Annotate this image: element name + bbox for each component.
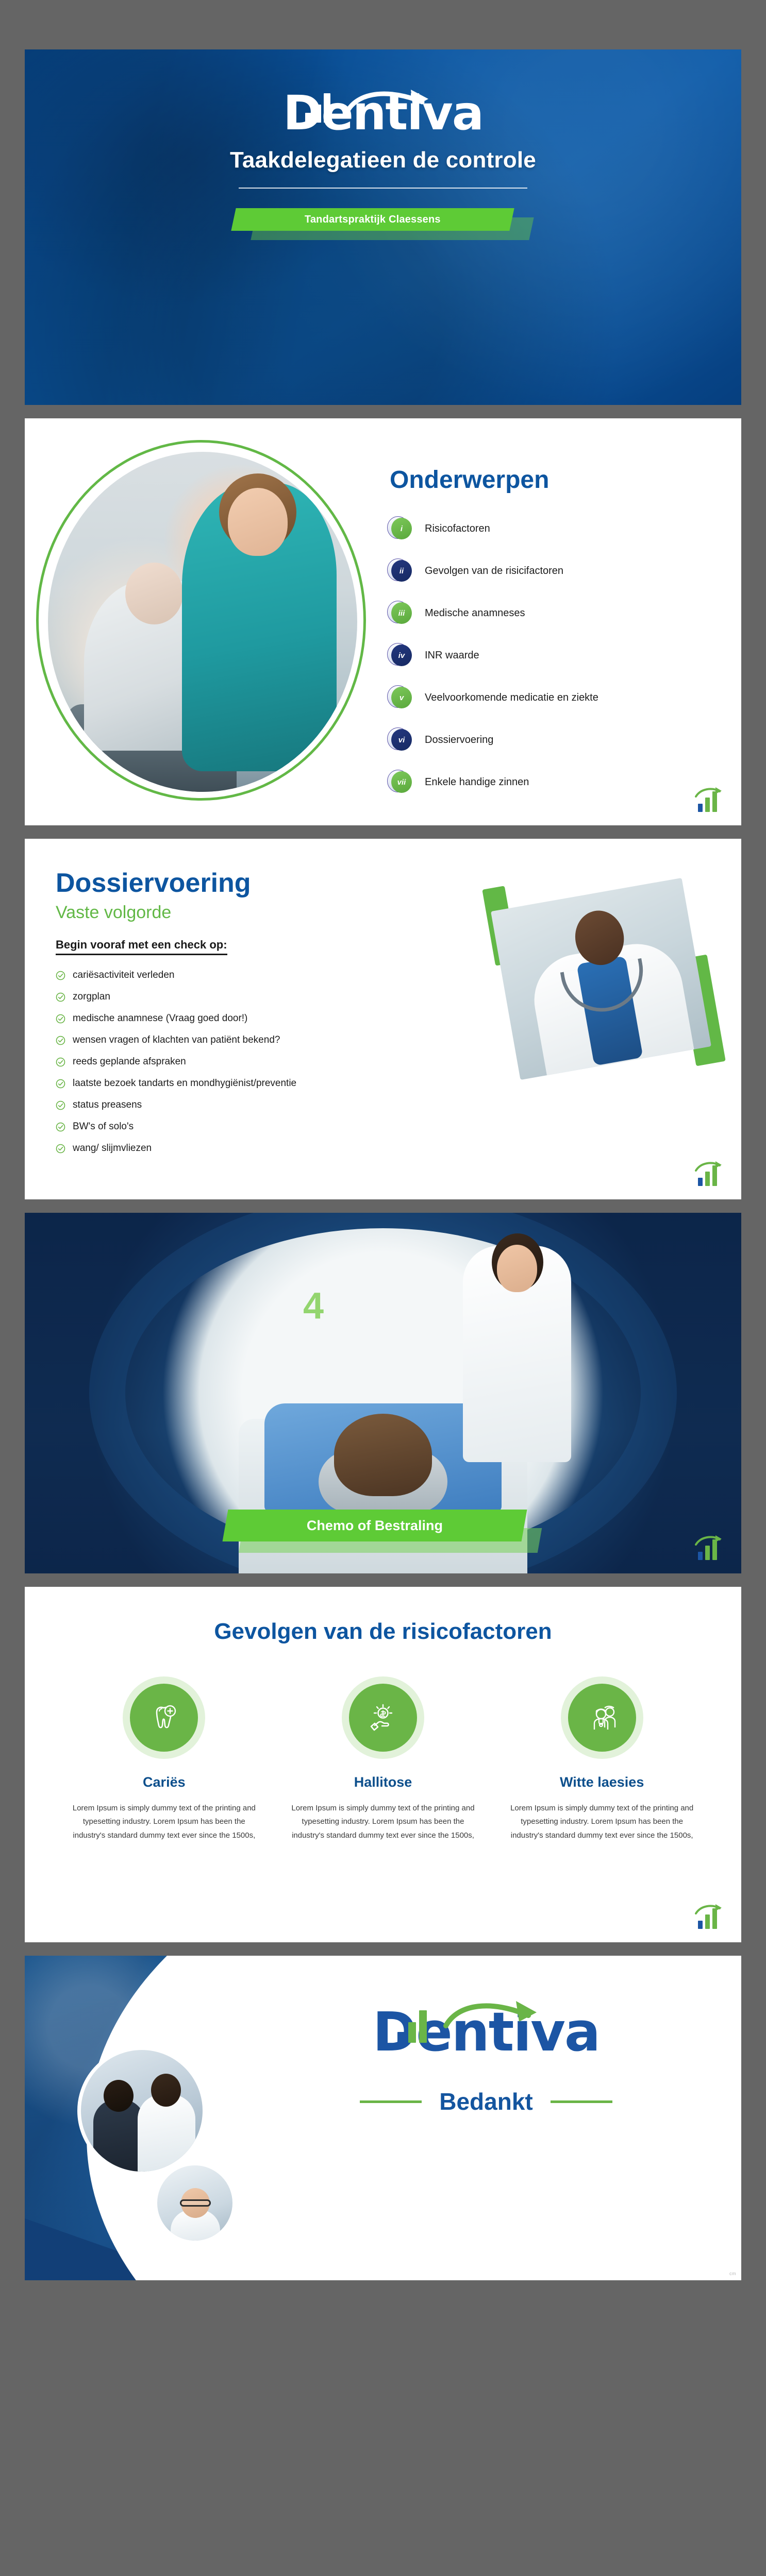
doctor-photo [493, 888, 714, 1074]
list-item-label: reeds geplande afspraken [73, 1056, 186, 1067]
badge-label: Tandartspraktijk Claessens [305, 214, 441, 226]
checklist-lead: Begin vooraf met een check op: [56, 938, 227, 955]
agenda-item-3[interactable]: iii Medische anamneses [390, 602, 712, 624]
check-circle-icon [56, 992, 65, 1002]
consequence-title: Witte laesies [504, 1774, 700, 1790]
page-title: Taakdelegatieen de controle [230, 147, 536, 173]
slide-deck: Dentiva Taakdelegatieen de controle Tand… [0, 0, 766, 2347]
check-circle-icon [56, 1036, 65, 1045]
badge-main: Tandartspraktijk Claessens [231, 208, 514, 231]
logo-arrow-icon [345, 87, 443, 124]
agenda-item-2[interactable]: ii Gevolgen van de risicifactoren [390, 560, 712, 582]
deck-top-margin [0, 0, 766, 49]
check-circle-icon [56, 1057, 65, 1067]
numeral-badge-vi: vi [390, 729, 411, 751]
consequence-column-1: Cariës Lorem Ipsum is simply dummy text … [66, 1676, 262, 1842]
agenda-item-7[interactable]: vii Enkele handige zinnen [390, 771, 712, 793]
slide-thank-you: Dentiva Bedankt cm [25, 1956, 741, 2280]
mini-logo-mark [695, 1161, 724, 1186]
badge-label: Chemo of Bestraling [307, 1518, 443, 1534]
thanks-content: Dentiva Bedankt [267, 2005, 705, 2115]
numeral-badge-iv: iv [390, 645, 411, 666]
mini-arrow-icon [695, 1160, 724, 1174]
hand-coin-idea-icon-ring [342, 1676, 424, 1759]
numeral-badge-i: i [390, 518, 411, 539]
logo-bars-icon [397, 2010, 426, 2042]
avatar-team-photo [77, 2046, 206, 2175]
dentiva-logo: Dentiva [283, 90, 483, 137]
slide-gap [0, 1942, 766, 1956]
hand-coin-idea-icon [366, 1701, 400, 1735]
numeral-badge-v: v [390, 687, 411, 708]
list-item[interactable]: BW's of solo's [56, 1121, 710, 1132]
tooth-plus-icon [147, 1701, 181, 1735]
avatar-doctor-photo [154, 2162, 236, 2244]
list-item-label: medische anamnese (Vraag goed door!) [73, 1013, 247, 1024]
slide-gap [0, 1573, 766, 1587]
slide-photo-chemo: 4 Chemo of Bestraling [25, 1213, 741, 1573]
mini-arrow-icon [695, 786, 724, 800]
agenda-item-label: Dossiervoering [425, 734, 493, 746]
check-circle-icon [56, 1100, 65, 1110]
numeral-badge-iii: iii [390, 602, 411, 624]
agenda-item-5[interactable]: v Veelvoorkomende medicatie en ziekte [390, 687, 712, 708]
title-stack: Dentiva Taakdelegatieen de controle Tand… [25, 49, 741, 238]
list-item-label: laatste bezoek tandarts en mondhygiënist… [73, 1078, 296, 1089]
thanks-rule-left [360, 2100, 422, 2103]
list-item-label: BW's of solo's [73, 1121, 134, 1132]
check-circle-icon [56, 1079, 65, 1089]
check-circle-icon [56, 971, 65, 980]
list-item-label: zorgplan [73, 991, 110, 1003]
slide-number: 4 [303, 1285, 324, 1327]
page-title: Onderwerpen [390, 466, 712, 494]
slide-consequences: Gevolgen van de risicofactoren Cariës Lo… [25, 1587, 741, 1942]
agenda-item-label: INR waarde [425, 650, 479, 662]
list-item-label: cariësactiviteit verleden [73, 970, 174, 981]
consequence-body: Lorem Ipsum is simply dummy text of the … [66, 1802, 262, 1842]
agenda-photo-area [25, 418, 380, 825]
list-item[interactable]: status preasens [56, 1099, 710, 1111]
title-divider [239, 188, 527, 189]
consequence-body: Lorem Ipsum is simply dummy text of the … [285, 1802, 481, 1842]
check-circle-icon [56, 1014, 65, 1024]
slide-agenda: Onderwerpen i Risicofactoren ii Gevolgen… [25, 418, 741, 825]
mini-arrow-icon [695, 1903, 724, 1917]
agenda-item-label: Enkele handige zinnen [425, 776, 529, 788]
list-item-label: wensen vragen of klachten van patiënt be… [73, 1035, 280, 1046]
check-circle-icon [56, 1144, 65, 1154]
logo-arrow-icon [443, 1998, 551, 2041]
chemo-badge: Chemo of Bestraling [223, 1507, 543, 1555]
slide-gap [0, 825, 766, 839]
agenda-item-1[interactable]: i Risicofactoren [390, 518, 712, 539]
medical-staff-icon-ring [561, 1676, 643, 1759]
badge-main: Chemo of Bestraling [223, 1510, 527, 1541]
consequence-column-2: Hallitose Lorem Ipsum is simply dummy te… [285, 1676, 481, 1842]
medical-staff-icon [585, 1701, 619, 1735]
practice-badge: Tandartspraktijk Claessens [228, 206, 538, 238]
agenda-item-label: Gevolgen van de risicifactoren [425, 565, 563, 577]
slide-dossiervoering: Dossiervoering Vaste volgorde Begin voor… [25, 839, 741, 1199]
agenda-item-4[interactable]: iv INR waarde [390, 645, 712, 666]
mini-logo-mark [695, 787, 724, 812]
slide-gap [0, 405, 766, 418]
thanks-label: Bedankt [439, 2088, 532, 2115]
consequence-body: Lorem Ipsum is simply dummy text of the … [504, 1802, 700, 1842]
slide-title: Dentiva Taakdelegatieen de controle Tand… [25, 49, 741, 405]
corner-watermark: cm [729, 2271, 736, 2276]
list-item-label: status preasens [73, 1099, 142, 1111]
consequence-column-3: Witte laesies Lorem Ipsum is simply dumm… [504, 1676, 700, 1842]
mini-logo-mark [695, 1535, 724, 1560]
mini-arrow-icon [695, 1534, 724, 1548]
list-item[interactable]: wang/ slijmvliezen [56, 1143, 710, 1154]
consequence-title: Cariës [66, 1774, 262, 1790]
consequence-title: Hallitose [285, 1774, 481, 1790]
mini-logo-mark [695, 1904, 724, 1929]
doctor-image [491, 878, 711, 1080]
nurse-patient-photo [48, 452, 357, 792]
numeral-badge-ii: ii [390, 560, 411, 582]
list-item-label: wang/ slijmvliezen [73, 1143, 152, 1154]
agenda-item-label: Medische anamneses [425, 607, 525, 619]
consequence-columns: Cariës Lorem Ipsum is simply dummy text … [66, 1676, 700, 1842]
agenda-item-6[interactable]: vi Dossiervoering [390, 729, 712, 751]
agenda-list: i Risicofactoren ii Gevolgen van de risi… [390, 518, 712, 793]
slide-gap [0, 1199, 766, 1213]
tooth-plus-icon-ring [123, 1676, 205, 1759]
deck-bottom-margin [0, 2280, 766, 2347]
logo-bars-icon [305, 93, 330, 123]
thanks-row: Bedankt [267, 2088, 705, 2115]
page-title: Gevolgen van de risicofactoren [66, 1619, 700, 1645]
numeral-badge-vii: vii [390, 771, 411, 793]
thanks-rule-right [551, 2100, 612, 2103]
dentiva-logo: Dentiva [373, 2005, 600, 2059]
agenda-content: Onderwerpen i Risicofactoren ii Gevolgen… [380, 418, 741, 825]
agenda-item-label: Veelvoorkomende medicatie en ziekte [425, 692, 598, 704]
agenda-item-label: Risicofactoren [425, 523, 490, 535]
check-circle-icon [56, 1122, 65, 1132]
list-item[interactable]: laatste bezoek tandarts en mondhygiënist… [56, 1078, 710, 1089]
